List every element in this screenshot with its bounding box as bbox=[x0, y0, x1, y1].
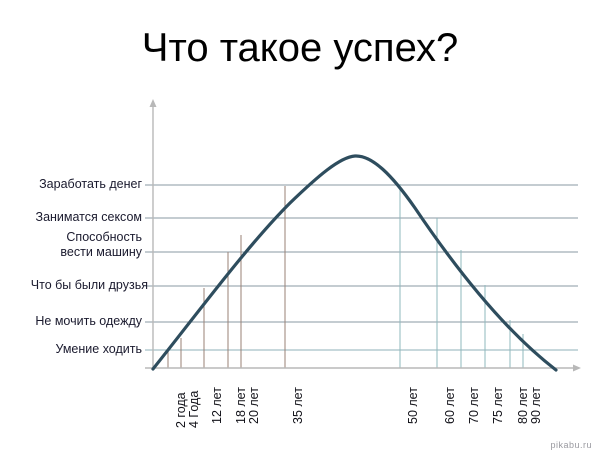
y-axis-label-drive-ability-line2: вести машину bbox=[60, 245, 142, 260]
chart-page: Что такое успех? bbox=[0, 0, 600, 456]
x-axis-label-12-years: 12 лет bbox=[210, 387, 224, 424]
x-axis-label-75-years: 75 лет bbox=[491, 387, 505, 424]
x-axis-label-35-years: 35 лет bbox=[291, 387, 305, 424]
horizontal-gridlines bbox=[145, 185, 578, 350]
y-axis-label-have-sex: Заниматся сексом bbox=[36, 210, 142, 225]
axes bbox=[145, 99, 581, 372]
x-axis-label-20-years: 20 лет bbox=[247, 387, 261, 424]
y-axis-label-dont-wet-clothes: Не мочить одежду bbox=[35, 314, 142, 329]
x-axis-label-80-years: 80 лет bbox=[516, 387, 530, 424]
x-axis-label-50-years: 50 лет bbox=[406, 387, 420, 424]
y-axis-label-drive-ability-line1: Способность bbox=[66, 230, 142, 245]
x-axis-label-90-years: 90 лет bbox=[529, 387, 543, 424]
y-axis-label-have-friends: Что бы были друзья bbox=[31, 278, 148, 293]
x-axis-label-18-years: 18 лет bbox=[234, 387, 248, 424]
x-axis-label-4-years: 4 Года bbox=[187, 391, 201, 428]
x-axis-label-60-years: 60 лет bbox=[443, 387, 457, 424]
success-curve bbox=[153, 156, 556, 370]
x-axis-label-2-years: 2 года bbox=[174, 392, 188, 428]
y-axis-label-earn-money: Заработать денег bbox=[39, 177, 142, 192]
watermark: pikabu.ru bbox=[550, 440, 592, 450]
y-axis-label-ability-to-walk: Умение ходить bbox=[55, 342, 142, 357]
x-axis-label-70-years: 70 лет bbox=[467, 387, 481, 424]
